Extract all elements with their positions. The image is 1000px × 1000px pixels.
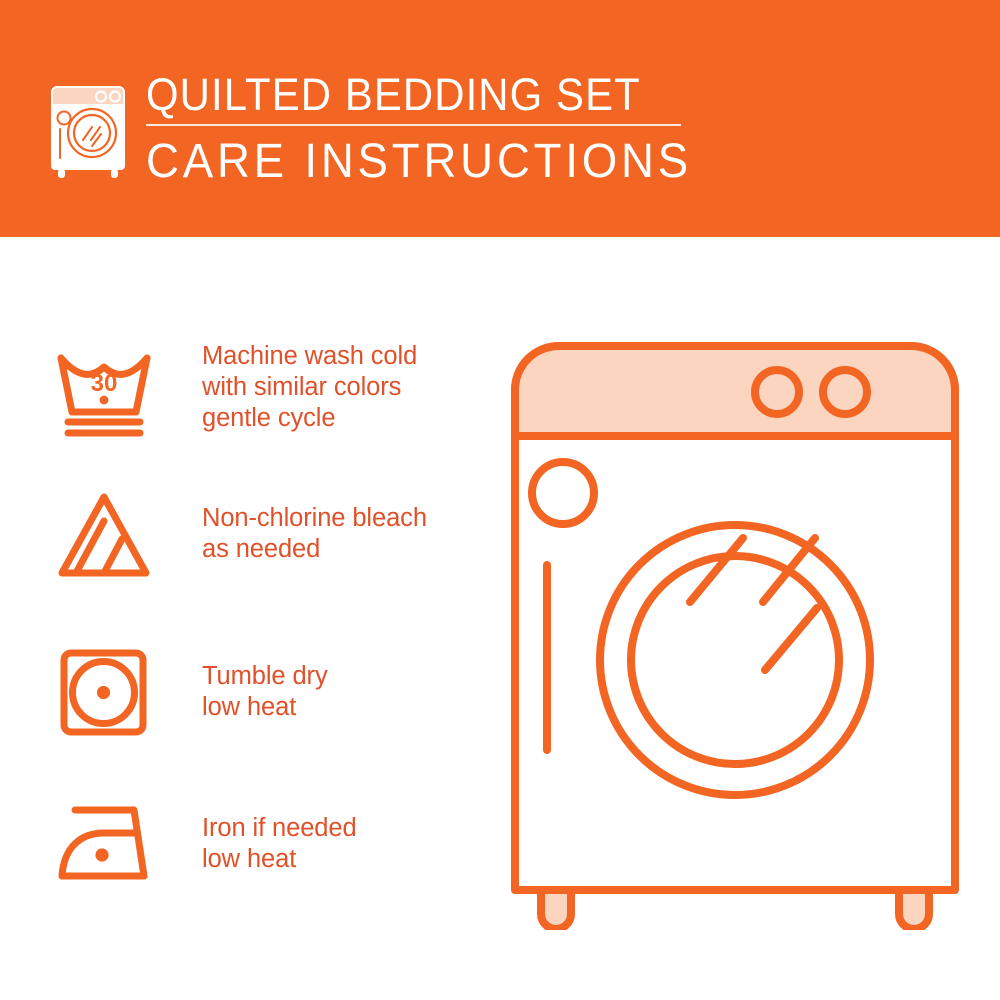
washing-machine-icon [45,72,137,178]
care-item-text: Tumble dry low heat [160,642,478,723]
header-text-block: QUILTED BEDDING SET CARE INSTRUCTIONS [146,70,706,189]
iron-low-heat-icon [48,793,160,893]
care-item-iron: Iron if needed low heat [48,793,478,893]
care-item-text: Machine wash cold with similar colors ge… [160,340,478,434]
care-text-line: low heat [202,692,478,723]
front-load-washing-machine-illustration [495,330,975,930]
care-item-text: Iron if needed low heat [160,793,478,875]
care-item-non-chlorine-bleach: Non-chlorine bleach as needed [48,485,478,585]
care-text-line: gentle cycle [202,403,478,434]
care-instruction-list: 30 Machine wash cold with similar colors… [0,237,480,1000]
care-text-line: Tumble dry [202,661,478,692]
care-text-line: as needed [202,534,478,565]
page-title: QUILTED BEDDING SET [146,70,667,120]
care-text-line: low heat [202,844,478,875]
care-item-tumble-dry: Tumble dry low heat [48,642,478,742]
tumble-dry-low-heat-icon [48,642,160,742]
care-text-line: Machine wash cold [202,341,478,372]
header-band: QUILTED BEDDING SET CARE INSTRUCTIONS [0,0,1000,237]
non-chlorine-bleach-triangle-icon [48,485,160,585]
care-text-line: with similar colors [202,372,478,403]
care-item-text: Non-chlorine bleach as needed [160,485,478,565]
care-instructions-page: QUILTED BEDDING SET CARE INSTRUCTIONS 30 [0,0,1000,1000]
care-text-line: Non-chlorine bleach [202,503,478,534]
wash-temperature-label: 30 [91,370,118,397]
wash-tub-30-gentle-icon: 30 [48,340,160,440]
page-subtitle: CARE INSTRUCTIONS [146,135,678,189]
care-item-machine-wash: 30 Machine wash cold with similar colors… [48,340,478,440]
care-text-line: Iron if needed [202,813,478,844]
header-divider [146,124,681,126]
